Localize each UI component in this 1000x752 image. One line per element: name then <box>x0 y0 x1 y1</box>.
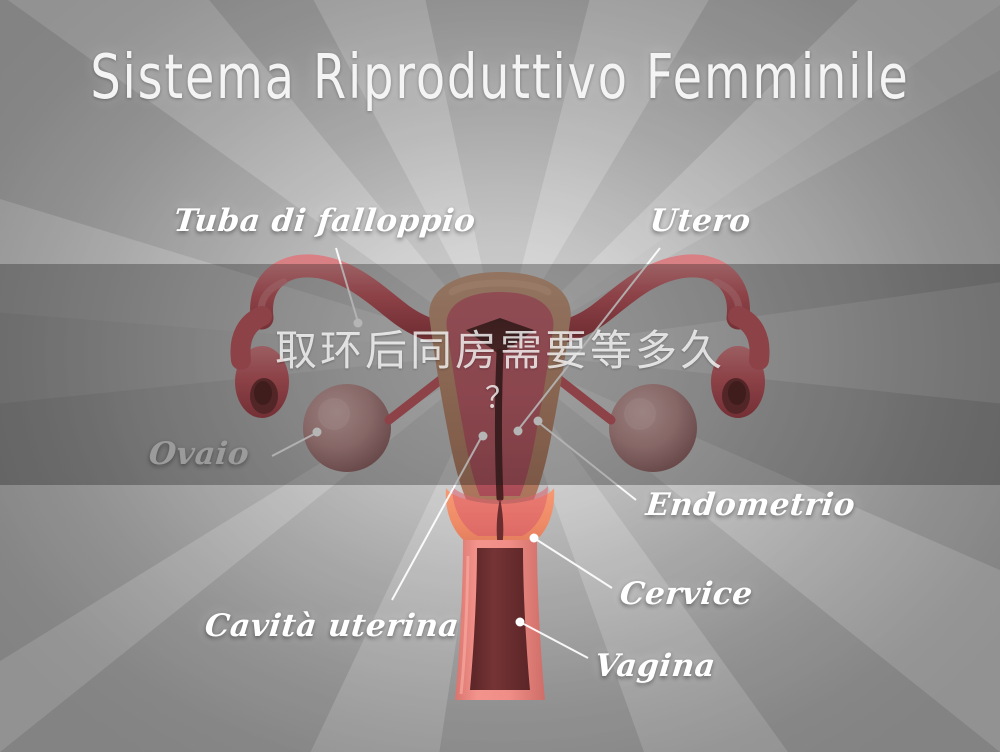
label-tuba-di-falloppio: Tuba di falloppio <box>172 203 477 239</box>
label-cervice: Cervice <box>618 576 754 612</box>
label-cavita-uterina: Cavità uterina <box>203 608 461 644</box>
leader-lines <box>0 0 1000 752</box>
label-endometrio: Endometrio <box>644 487 857 523</box>
label-vagina: Vagina <box>593 648 717 684</box>
poster-canvas: Sistema Riproduttivo Femminile <box>0 0 1000 752</box>
label-ovaio: Ovaio <box>147 436 251 472</box>
label-utero: Utero <box>648 203 752 239</box>
